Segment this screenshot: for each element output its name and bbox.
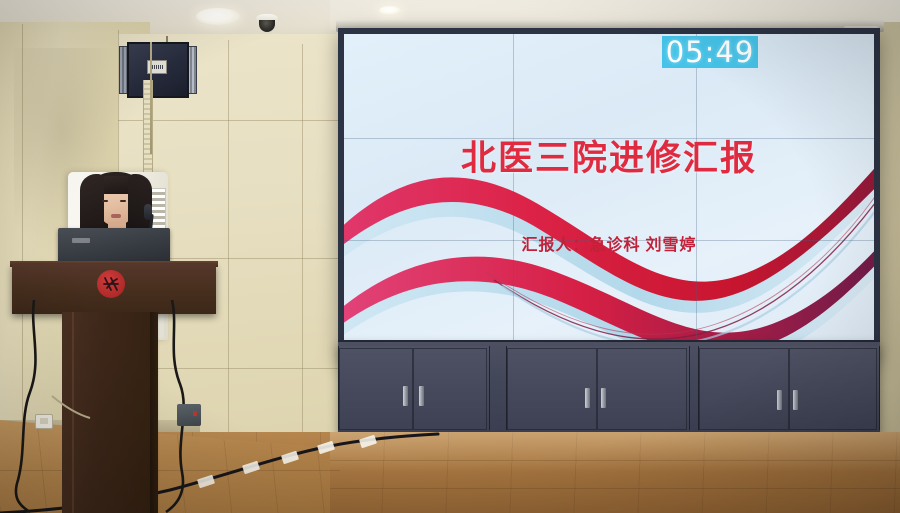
presenter-eye-left xyxy=(102,200,108,202)
cabinet-handle[interactable] xyxy=(403,386,408,406)
slide-subtitle: 汇报人：急诊科 刘雪婷 xyxy=(344,231,874,255)
cabinet-unit xyxy=(506,346,690,430)
institution-emblem-icon xyxy=(97,270,125,298)
wall-power-outlet[interactable] xyxy=(35,414,53,429)
waste-bin xyxy=(177,404,201,426)
cabinet-door[interactable] xyxy=(413,348,487,430)
slide-swoosh-graphic xyxy=(344,34,874,354)
video-wall-seam-vertical xyxy=(696,34,697,354)
wall-speaker xyxy=(119,36,205,98)
presentation-room-photo: 北医三院进修汇报 汇报人：急诊科 刘雪婷 05:49 xyxy=(0,0,900,513)
video-wall-screen[interactable]: 北医三院进修汇报 汇报人：急诊科 刘雪婷 05:49 xyxy=(344,34,874,354)
ceiling-light-2 xyxy=(379,6,401,15)
cabinet-handle[interactable] xyxy=(793,390,798,410)
video-wall-seam-vertical xyxy=(513,34,514,354)
timer-badge[interactable]: 05:49 xyxy=(662,36,758,68)
cabinet-handle[interactable] xyxy=(601,388,606,408)
dome-security-camera-icon xyxy=(256,14,278,34)
presenter-mouth xyxy=(111,214,121,218)
cabinet-handle[interactable] xyxy=(777,390,782,410)
ceiling-light-1 xyxy=(196,8,240,25)
cabinet-unit xyxy=(338,346,490,430)
cabinet-door[interactable] xyxy=(339,348,413,430)
cabinet-handle[interactable] xyxy=(585,388,590,408)
cabinet-unit xyxy=(698,346,880,430)
wall-panel-seam xyxy=(302,44,303,434)
timer-value: 05:49 xyxy=(666,38,755,67)
emblem-glyph xyxy=(97,270,125,298)
slide-title: 北医三院进修汇报 xyxy=(344,130,874,181)
cabinet-door[interactable] xyxy=(597,348,687,430)
cabinet-door[interactable] xyxy=(699,348,789,430)
cabinet-door[interactable] xyxy=(789,348,877,430)
cabinet-door[interactable] xyxy=(507,348,597,430)
presenter-eye-right xyxy=(120,200,126,202)
cabinet-handle[interactable] xyxy=(419,386,424,406)
speaker-cable xyxy=(150,42,152,154)
right-wall xyxy=(878,22,900,442)
laptop-brand-badge xyxy=(72,238,90,243)
